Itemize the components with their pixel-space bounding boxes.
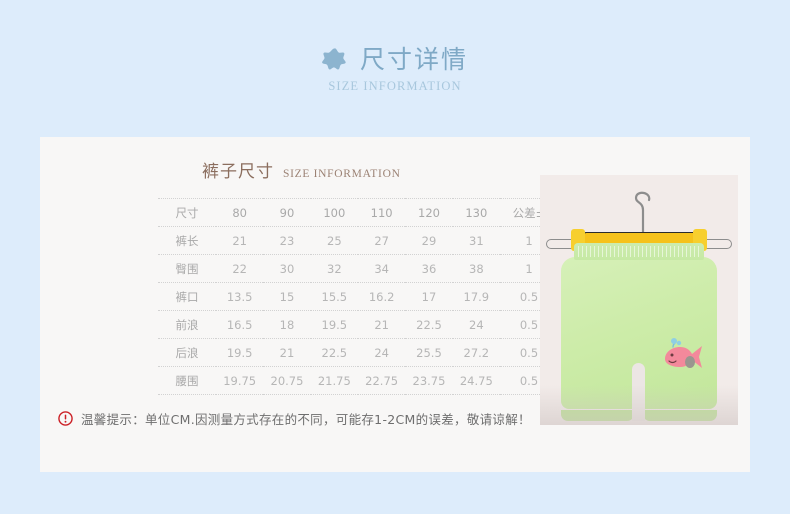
table-cell: 20.75 [263,367,310,395]
table-cell: 31 [453,227,500,255]
warning-icon [58,411,73,426]
size-table: 尺寸8090100110120130公差±裤长2123252729311臀围22… [158,198,558,395]
table-header-cell: 130 [453,199,500,227]
shorts-waistband [574,243,704,260]
table-cell: 21 [216,227,263,255]
table-cell: 17.9 [453,283,500,311]
table-cell: 23.75 [405,367,452,395]
table-header-cell: 110 [358,199,405,227]
table-cell: 22 [216,255,263,283]
table-cell: 30 [263,255,310,283]
table-cell: 21.75 [311,367,358,395]
table-cell: 22.5 [311,339,358,367]
table-cell: 36 [405,255,452,283]
table-cell: 16.5 [216,311,263,339]
content-panel: 裤子尺寸 SIZE INFORMATION 尺寸8090100110120130… [40,137,750,472]
table-cell: 27.2 [453,339,500,367]
table-header-cell: 100 [311,199,358,227]
table-cell: 29 [405,227,452,255]
table-row: 腰围19.7520.7521.7522.7523.7524.750.5 [158,367,558,395]
table-header-cell: 80 [216,199,263,227]
table-header-row: 尺寸8090100110120130公差± [158,199,558,227]
product-photo [540,175,738,425]
table-cell: 25.5 [405,339,452,367]
table-header-cell: 尺寸 [158,199,216,227]
size-table-title-cn: 裤子尺寸 [202,157,274,182]
tip-note: 温馨提示：单位CM.因测量方式存在的不同，可能存1-2CM的误差，敬请谅解！ [58,409,531,428]
size-table-title-en: SIZE INFORMATION [283,168,401,180]
page-title-cn: 尺寸详情 [360,46,468,74]
table-row-label: 裤口 [158,283,216,311]
table-cell: 22.5 [405,311,452,339]
table-row-label: 裤长 [158,227,216,255]
table-cell: 25 [311,227,358,255]
hanger-hook-icon [626,191,660,235]
table-cell: 27 [358,227,405,255]
table-cell: 19.5 [216,339,263,367]
table-row: 后浪19.52122.52425.527.20.5 [158,339,558,367]
table-header-cell: 90 [263,199,310,227]
page-root: 尺寸详情 SIZE INFORMATION 裤子尺寸 SIZE INFORMAT… [0,0,790,514]
whale-print-icon [659,335,709,375]
table-row-label: 后浪 [158,339,216,367]
table-cell: 34 [358,255,405,283]
star-icon [322,47,348,73]
table-cell: 24 [358,339,405,367]
table-cell: 16.2 [358,283,405,311]
page-header: 尺寸详情 SIZE INFORMATION [0,46,790,94]
table-cell: 24 [453,311,500,339]
table-cell: 23 [263,227,310,255]
table-row-label: 臀围 [158,255,216,283]
table-cell: 24.75 [453,367,500,395]
table-cell: 15.5 [311,283,358,311]
table-cell: 18 [263,311,310,339]
table-cell: 21 [263,339,310,367]
table-cell: 22.75 [358,367,405,395]
page-title-en: SIZE INFORMATION [0,79,790,94]
table-row: 裤长2123252729311 [158,227,558,255]
table-cell: 19.75 [216,367,263,395]
table-row: 前浪16.51819.52122.5240.5 [158,311,558,339]
photo-floor-shadow [540,385,738,425]
table-cell: 38 [453,255,500,283]
table-row: 裤口13.51515.516.21717.90.5 [158,283,558,311]
table-cell: 21 [358,311,405,339]
table-cell: 17 [405,283,452,311]
table-row-label: 前浪 [158,311,216,339]
table-cell: 32 [311,255,358,283]
table-cell: 15 [263,283,310,311]
table-header-cell: 120 [405,199,452,227]
tip-note-text: 温馨提示：单位CM.因测量方式存在的不同，可能存1-2CM的误差，敬请谅解！ [81,409,531,428]
product-photo-scene [540,175,738,425]
size-table-title: 裤子尺寸 SIZE INFORMATION [158,157,558,182]
table-row-label: 腰围 [158,367,216,395]
table-cell: 13.5 [216,283,263,311]
table-cell: 19.5 [311,311,358,339]
size-table-block: 裤子尺寸 SIZE INFORMATION 尺寸8090100110120130… [158,157,558,395]
page-header-line: 尺寸详情 [0,46,790,74]
table-row: 臀围2230323436381 [158,255,558,283]
